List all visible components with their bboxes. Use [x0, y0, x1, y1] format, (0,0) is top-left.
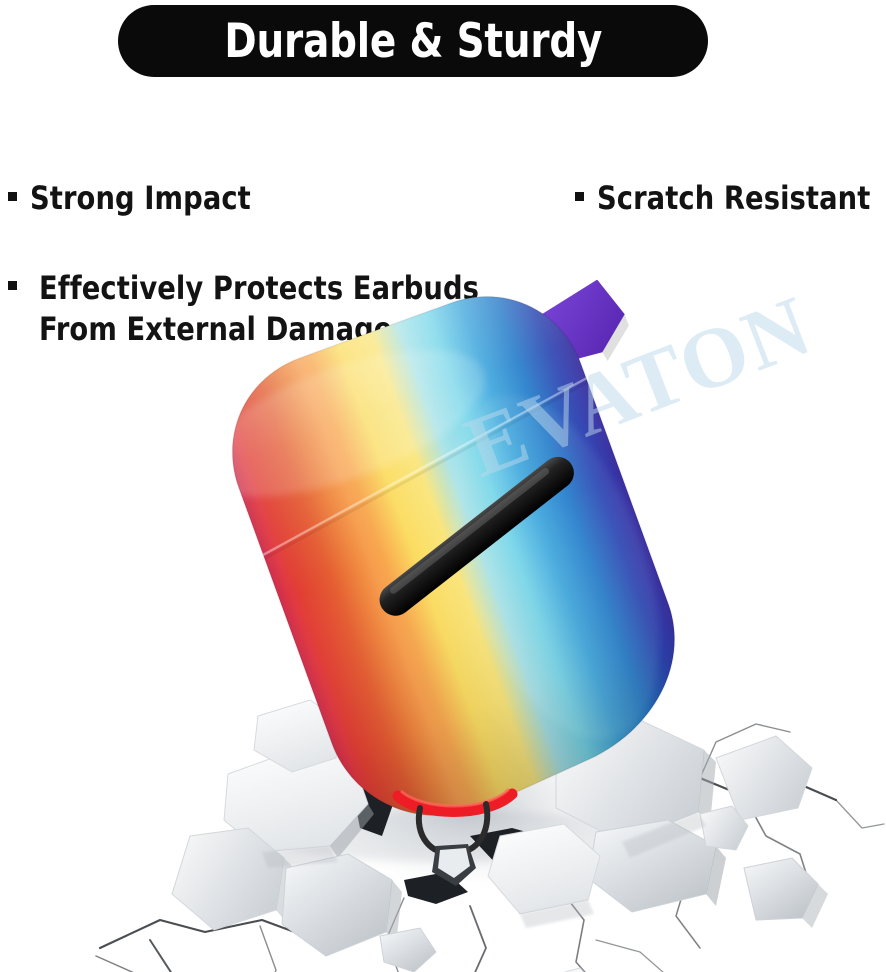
feature-label: Strong Impact — [30, 178, 251, 219]
product-scene — [0, 280, 886, 972]
square-bullet-icon — [575, 192, 584, 201]
title-badge: Durable & Sturdy — [118, 5, 708, 77]
feature-strong-impact: Strong Impact — [8, 178, 262, 219]
page-title: Durable & Sturdy — [224, 18, 602, 65]
feature-label: Scratch Resistant — [597, 178, 870, 219]
feature-scratch-resistant: Scratch Resistant — [575, 178, 885, 219]
square-bullet-icon — [8, 192, 17, 201]
product-feature-image: Durable & Sturdy Strong Impact Scratch R… — [0, 0, 886, 972]
